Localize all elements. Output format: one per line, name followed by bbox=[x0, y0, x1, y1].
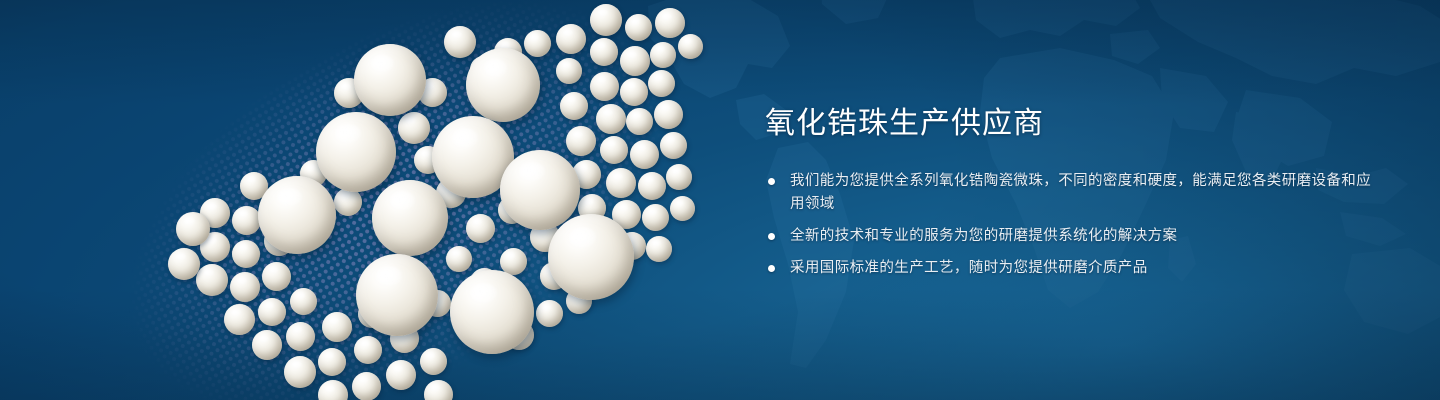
list-item: 采用国际标准的生产工艺，随时为您提供研磨介质产品 bbox=[765, 257, 1385, 280]
bullet-dot-icon bbox=[768, 265, 775, 272]
bullet-dot-icon bbox=[768, 178, 775, 185]
bullet-dot-icon bbox=[768, 233, 775, 240]
hero-banner: 氧化锆珠生产供应商 我们能为您提供全系列氧化锆陶瓷微珠，不同的密度和硬度，能满足… bbox=[0, 0, 1440, 400]
banner-copy: 氧化锆珠生产供应商 我们能为您提供全系列氧化锆陶瓷微珠，不同的密度和硬度，能满足… bbox=[765, 104, 1385, 280]
list-item-label: 全新的技术和专业的服务为您的研磨提供系统化的解决方案 bbox=[790, 228, 1177, 244]
feature-list: 我们能为您提供全系列氧化锆陶瓷微珠，不同的密度和硬度，能满足您各类研磨设备和应用… bbox=[765, 170, 1385, 280]
page-title: 氧化锆珠生产供应商 bbox=[765, 104, 1385, 144]
list-item: 全新的技术和专业的服务为您的研磨提供系统化的解决方案 bbox=[765, 225, 1385, 248]
list-item-label: 我们能为您提供全系列氧化锆陶瓷微珠，不同的密度和硬度，能满足您各类研磨设备和应用… bbox=[790, 173, 1371, 212]
list-item: 我们能为您提供全系列氧化锆陶瓷微珠，不同的密度和硬度，能满足您各类研磨设备和应用… bbox=[765, 170, 1385, 216]
list-item-label: 采用国际标准的生产工艺，随时为您提供研磨介质产品 bbox=[790, 260, 1148, 276]
